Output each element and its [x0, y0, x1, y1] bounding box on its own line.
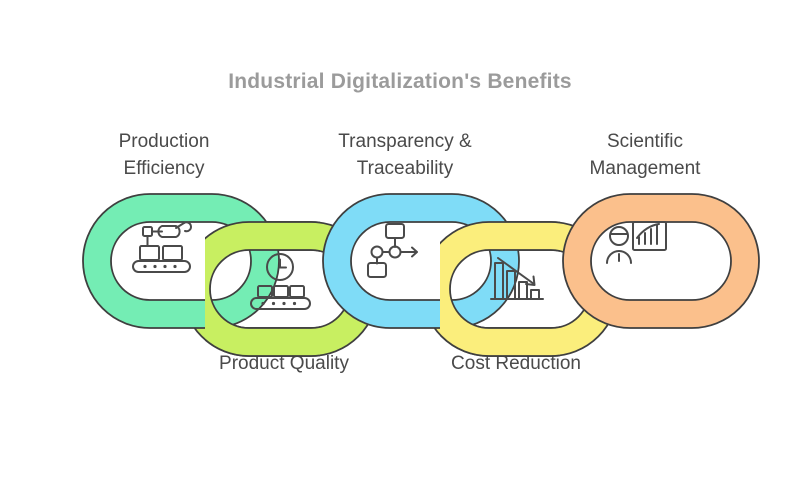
chain-link-transparency-traceability — [323, 194, 519, 328]
chain-link-scientific-management — [563, 194, 759, 328]
infographic-canvas: Industrial Digitalization's Benefits Pro… — [0, 0, 800, 500]
chain-diagram — [0, 0, 800, 500]
